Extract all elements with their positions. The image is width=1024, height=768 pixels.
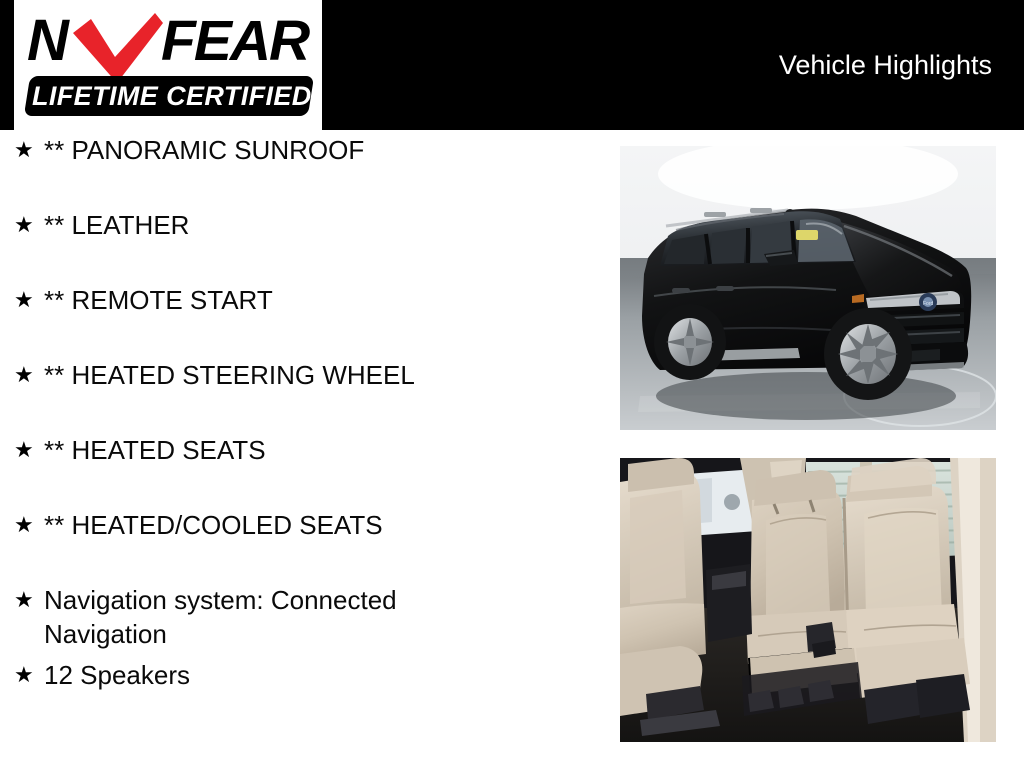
star-bullet-icon: ★ xyxy=(14,280,44,320)
list-item-label: ** HEATED STEERING WHEEL xyxy=(44,355,484,392)
logo-letter-n: N xyxy=(27,11,67,71)
list-item: ★ 12 Speakers xyxy=(0,655,600,730)
list-item: ★ ** HEATED/COOLED SEATS xyxy=(0,505,600,580)
page-title: Vehicle Highlights xyxy=(779,0,992,130)
list-item-label: 12 Speakers xyxy=(44,655,484,692)
logo-wordmark: N FEAR xyxy=(27,11,313,73)
star-bullet-icon: ★ xyxy=(14,430,44,470)
list-item: ★ Navigation system: Connected Navigatio… xyxy=(0,580,600,655)
vehicle-highlights-list: ★ ** PANORAMIC SUNROOF ★ ** LEATHER ★ **… xyxy=(0,130,600,730)
red-checkmark-icon xyxy=(71,13,165,85)
list-item-label: ** REMOTE START xyxy=(44,280,484,317)
list-item-label: ** HEATED/COOLED SEATS xyxy=(44,505,484,542)
star-bullet-icon: ★ xyxy=(14,580,44,620)
list-item: ★ ** PANORAMIC SUNROOF xyxy=(0,130,600,205)
list-item: ★ ** LEATHER xyxy=(0,205,600,280)
vehicle-interior-photo xyxy=(620,458,996,742)
star-bullet-icon: ★ xyxy=(14,205,44,245)
logo-tagline-text: LIFETIME CERTIFIED xyxy=(32,79,310,113)
list-item: ★ ** HEATED STEERING WHEEL xyxy=(0,355,600,430)
vehicle-exterior-photo: Ford xyxy=(620,146,996,430)
page-header: N FEAR LIFETIME CERTIFIED Vehicle Highli… xyxy=(0,0,1024,130)
star-bullet-icon: ★ xyxy=(14,505,44,545)
list-item-label: ** PANORAMIC SUNROOF xyxy=(44,130,484,167)
star-bullet-icon: ★ xyxy=(14,130,44,170)
star-bullet-icon: ★ xyxy=(14,355,44,395)
svg-text:Ford: Ford xyxy=(923,301,934,307)
list-item-label: Navigation system: Connected Navigation xyxy=(44,580,484,651)
star-bullet-icon: ★ xyxy=(14,655,44,695)
no-fear-lifetime-certified-logo: N FEAR LIFETIME CERTIFIED xyxy=(14,0,322,130)
logo-word-fear: FEAR xyxy=(161,11,308,71)
list-item: ★ ** REMOTE START xyxy=(0,280,600,355)
list-item: ★ ** HEATED SEATS xyxy=(0,430,600,505)
list-item-label: ** LEATHER xyxy=(44,205,484,242)
list-item-label: ** HEATED SEATS xyxy=(44,430,484,467)
